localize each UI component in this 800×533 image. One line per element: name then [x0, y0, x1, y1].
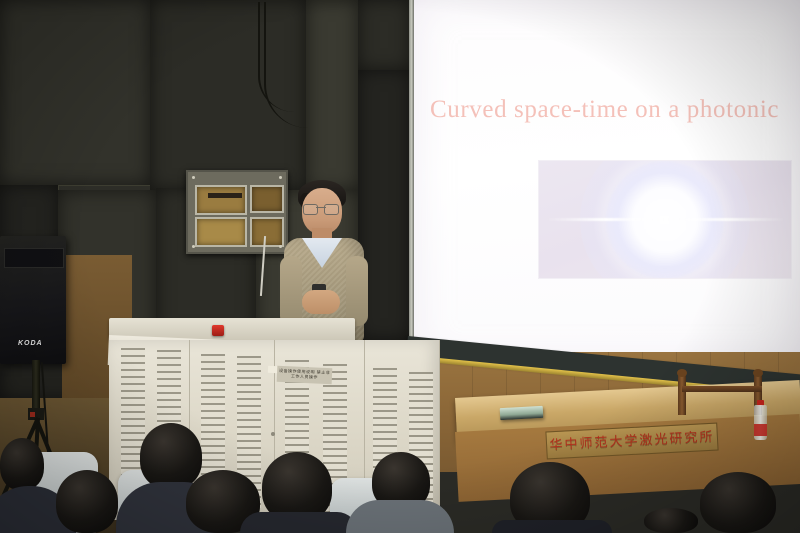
glasses-lens: [303, 204, 318, 215]
presenter-arm-right: [346, 256, 368, 326]
slide-figure: [538, 160, 792, 279]
audience-head: [644, 508, 698, 533]
emergency-red-button[interactable]: [212, 325, 224, 336]
presenter-arm-left: [280, 256, 302, 326]
lecture-hall-photo: Curved space-time on a photonic 华中师范大学激光…: [0, 0, 800, 533]
rail-knob: [677, 369, 687, 377]
panel-screw: [279, 176, 282, 179]
audience-shoulders: [492, 520, 612, 533]
cabinet-latch[interactable]: [271, 432, 275, 436]
pa-speaker-brand-label: KODA: [18, 340, 43, 347]
slide-title: Curved space-time on a photonic: [430, 96, 779, 124]
notebook: [500, 406, 544, 420]
pa-speaker: KODA: [0, 236, 66, 364]
wall-panel: [0, 0, 151, 186]
breaker-slot: [208, 193, 242, 198]
presenter-hands: [302, 290, 340, 314]
tripod-clamp-knob[interactable]: [30, 412, 35, 417]
audience-head: [700, 472, 776, 533]
bottle-label: [754, 424, 767, 436]
audience-head: [140, 423, 202, 489]
glow-spike-right: [665, 218, 787, 221]
glasses-lens: [324, 204, 339, 215]
cabinet-instruction-plate: 设备操作使用说明 禁止非工作人员操作: [277, 366, 333, 384]
panel-screw: [192, 176, 195, 179]
glow-spike-left: [545, 218, 667, 221]
audience-head: [0, 438, 44, 490]
glasses-bridge: [316, 207, 326, 208]
speaker-grille: [4, 248, 64, 268]
water-bottle: [754, 400, 767, 440]
wall-panel: [306, 0, 359, 191]
breaker-cell: [195, 185, 247, 215]
projection-screen: Curved space-time on a photonic: [414, 0, 800, 368]
eyeglasses-icon: [303, 204, 339, 213]
rail-bar: [682, 386, 762, 392]
audience-shoulders: [346, 500, 454, 533]
panel-screw: [192, 245, 195, 248]
rail-knob: [753, 369, 763, 377]
audience-shoulders: [240, 512, 358, 533]
breaker-cell: [195, 217, 247, 247]
audience-head: [56, 470, 118, 533]
wall-panel: [358, 0, 411, 71]
rail-post: [678, 373, 686, 415]
electrical-distribution-panel: [186, 170, 288, 254]
